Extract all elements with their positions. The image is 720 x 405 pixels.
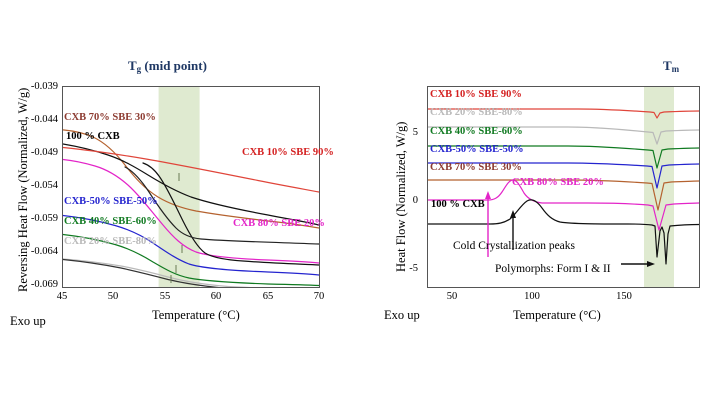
right-ytick-0: 5 xyxy=(396,127,418,138)
left-x-axis-label: Temperature (°C) xyxy=(152,308,240,323)
left-label-cxb70-sbe30: CXB 70% SBE 30% xyxy=(64,112,156,123)
annotation-polymorphs: Polymorphs: Form I & II xyxy=(495,263,611,275)
left-ytick-2: -0.049 xyxy=(16,147,58,158)
right-label-cxb20-sbe80: CXB 20% SBE-80% xyxy=(430,107,523,118)
left-xtick-5: 70 xyxy=(303,291,335,302)
annotation-cold-crystallization: Cold Crystallization peaks xyxy=(453,240,575,252)
left-xtick-4: 65 xyxy=(252,291,284,302)
left-label-cxb20-sbe80: CXB 20% SBE-80% xyxy=(64,236,157,247)
left-label-cxb80-sbe20: CXB 80% SBE 20% xyxy=(233,218,325,229)
magenta-cc-arrow-head xyxy=(485,191,491,199)
left-ytick-5: -0.064 xyxy=(16,246,58,257)
left-chart-title: Tg (mid point) xyxy=(128,58,207,74)
right-label-cxb70-sbe30: CXB 70% SBE 30% xyxy=(430,162,522,173)
right-xtick-2: 150 xyxy=(608,291,640,302)
right-xtick-0: 50 xyxy=(436,291,468,302)
left-ytick-3: -0.054 xyxy=(16,180,58,191)
right-ytick-2: -5 xyxy=(396,263,418,274)
right-label-cxb80-sbe20: CXB 80% SBE 20% xyxy=(512,177,604,188)
right-ytick-1: 0 xyxy=(396,195,418,206)
left-label-cxb40-sbe60: CXB 40% SBE-60% xyxy=(64,216,157,227)
right-xtick-1: 100 xyxy=(516,291,548,302)
right-exo-up-note: Exo up xyxy=(384,308,420,323)
left-ytick-0: -0.039 xyxy=(16,81,58,92)
left-exo-up-note: Exo up xyxy=(10,314,46,329)
right-label-cxb100: 100 % CXB xyxy=(431,199,485,210)
figure-root: Tg (mid point) Reversing Heat Flow (Norm… xyxy=(0,0,720,405)
tm-shaded-band xyxy=(644,87,674,287)
right-x-axis-label: Temperature (°C) xyxy=(513,308,601,323)
left-ytick-4: -0.059 xyxy=(16,213,58,224)
left-label-cxb100: 100 % CXB xyxy=(66,131,120,142)
right-label-cxb10-sbe90: CXB 10% SBE 90% xyxy=(430,89,522,100)
left-xtick-2: 55 xyxy=(149,291,181,302)
right-label-cxb50-sbe50: CXB-50% SBE-50% xyxy=(430,144,524,155)
left-xtick-0: 45 xyxy=(46,291,78,302)
right-label-cxb40-sbe60: CXB 40% SBE-60% xyxy=(430,126,523,137)
left-ytick-6: -0.069 xyxy=(16,279,58,290)
left-ytick-1: -0.044 xyxy=(16,114,58,125)
left-label-cxb10-sbe90: CXB 10% SBE 90% xyxy=(242,147,334,158)
left-xtick-3: 60 xyxy=(200,291,232,302)
right-chart-title: Tm xyxy=(663,58,679,74)
panel-right-tm: Tm Heat Flow (Normalized, W/g) 5 0 -5 xyxy=(380,0,720,405)
left-xtick-1: 50 xyxy=(97,291,129,302)
tg-shaded-band xyxy=(159,87,200,287)
panel-left-tg: Tg (mid point) Reversing Heat Flow (Norm… xyxy=(0,0,380,405)
left-label-cxb50-sbe50: CXB-50% SBE-50% xyxy=(64,196,158,207)
